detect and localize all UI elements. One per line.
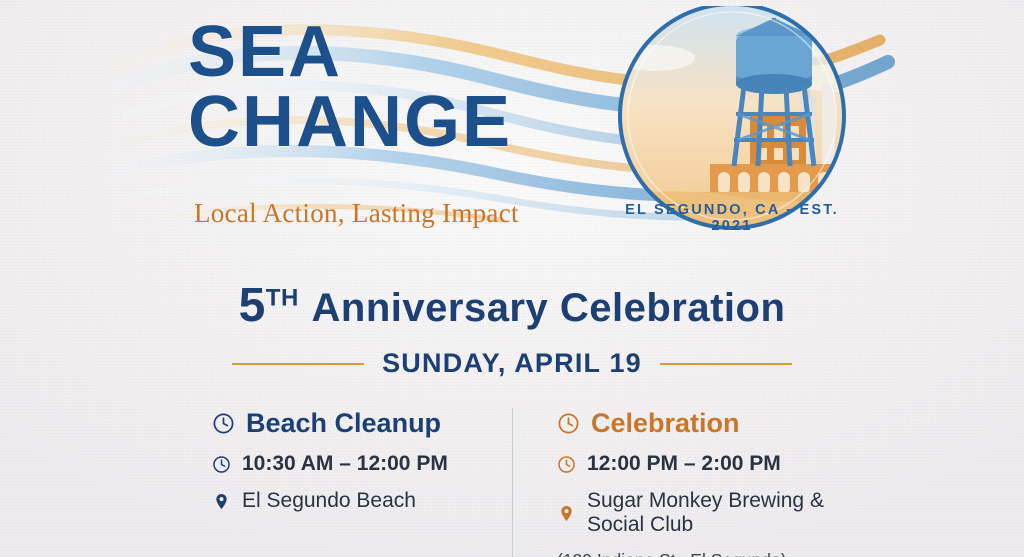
beach-cleanup-location: El Segundo Beach xyxy=(242,489,416,513)
event-details: Beach Cleanup 10:30 AM – 12:00 PM El Seg… xyxy=(0,408,1024,557)
logo-tagline: Local Action, Lasting Impact xyxy=(194,198,519,229)
logo-wordmark: SEA CHANGE xyxy=(188,18,512,157)
celebration-location-row: Sugar Monkey Brewing & Social Club xyxy=(557,489,860,537)
beach-cleanup-time: 10:30 AM – 12:00 PM xyxy=(242,452,448,476)
anniversary-ordinal: TH xyxy=(266,284,299,311)
event-poster: SEA CHANGE Local Action, Lasting Impact … xyxy=(0,0,1024,557)
celebration-address: (139 Indiana St., El Segundo) xyxy=(557,550,860,557)
sea-change-logo: SEA CHANGE Local Action, Lasting Impact … xyxy=(110,6,910,251)
map-pin-icon xyxy=(212,492,231,511)
beach-cleanup-title-row: Beach Cleanup xyxy=(212,408,500,439)
anniversary-number: 5 xyxy=(239,279,266,332)
anniversary-title-text: Anniversary Celebration xyxy=(312,286,786,330)
celebration-title-row: Celebration xyxy=(557,408,860,439)
event-column-celebration: Celebration 12:00 PM – 2:00 PM Sugar Mon… xyxy=(512,408,872,557)
clock-icon xyxy=(557,455,576,474)
divider-left xyxy=(232,363,364,365)
celebration-time: 12:00 PM – 2:00 PM xyxy=(587,452,781,476)
celebration-location: Sugar Monkey Brewing & Social Club xyxy=(587,489,860,537)
logo-word-sea: SEA xyxy=(188,18,512,86)
clock-icon xyxy=(212,455,231,474)
event-date: SUNDAY, APRIL 19 xyxy=(382,348,642,379)
map-pin-icon xyxy=(557,504,576,523)
logo-established-text: EL SEGUNDO, CA - EST. 2021 xyxy=(602,202,862,234)
divider-right xyxy=(660,363,792,365)
event-column-beach-cleanup: Beach Cleanup 10:30 AM – 12:00 PM El Seg… xyxy=(152,408,512,557)
beach-cleanup-title: Beach Cleanup xyxy=(246,408,441,439)
beach-cleanup-location-row: El Segundo Beach xyxy=(212,489,500,513)
page-title: 5TH Anniversary Celebration xyxy=(0,278,1024,333)
logo-word-change: CHANGE xyxy=(188,88,512,156)
beach-cleanup-time-row: 10:30 AM – 12:00 PM xyxy=(212,452,500,476)
clock-icon xyxy=(212,412,235,435)
celebration-time-row: 12:00 PM – 2:00 PM xyxy=(557,452,860,476)
clock-icon xyxy=(557,412,580,435)
event-date-row: SUNDAY, APRIL 19 xyxy=(0,348,1024,379)
celebration-title: Celebration xyxy=(591,408,740,439)
